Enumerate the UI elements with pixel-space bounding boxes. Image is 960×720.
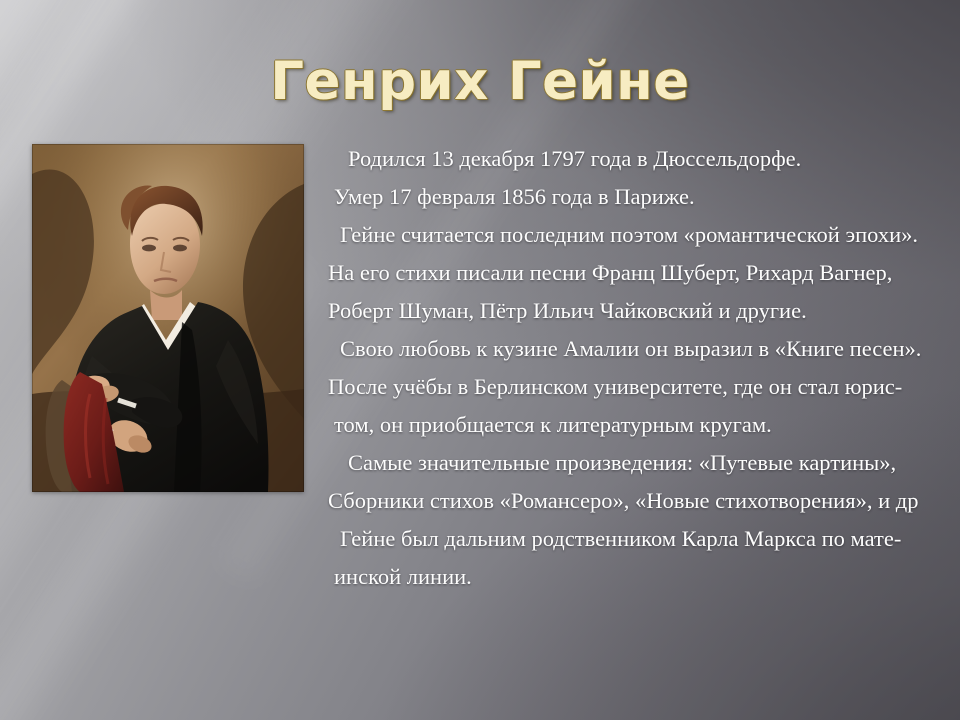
body-line: Гейне был дальним родственником Карла Ма… <box>318 520 960 558</box>
body-line: Родился 13 декабря 1797 года в Дюссельдо… <box>318 140 960 178</box>
body-line: том, он приобщается к литературным круга… <box>318 406 960 444</box>
presentation-slide: Генрих Гейне <box>0 0 960 720</box>
portrait-illustration <box>32 144 304 492</box>
body-line: Самые значительные произведения: «Путевы… <box>318 444 960 482</box>
body-line: Сборники стихов «Романсеро», «Новые стих… <box>318 482 960 520</box>
portrait-image <box>32 144 304 492</box>
body-line: После учёбы в Берлинском университете, г… <box>318 368 960 406</box>
slide-title: Генрих Гейне <box>0 54 960 110</box>
body-line: Свою любовь к кузине Амалии он выразил в… <box>318 330 960 368</box>
slide-body-text: Родился 13 декабря 1797 года в Дюссельдо… <box>318 140 960 596</box>
body-line: Умер 17 февраля 1856 года в Париже. <box>318 178 960 216</box>
body-line: инской линии. <box>318 558 960 596</box>
body-line: Гейне считается последним поэтом «романт… <box>318 216 960 254</box>
body-line: Роберт Шуман, Пётр Ильич Чайковский и др… <box>318 292 960 330</box>
body-line: На его стихи писали песни Франц Шуберт, … <box>318 254 960 292</box>
